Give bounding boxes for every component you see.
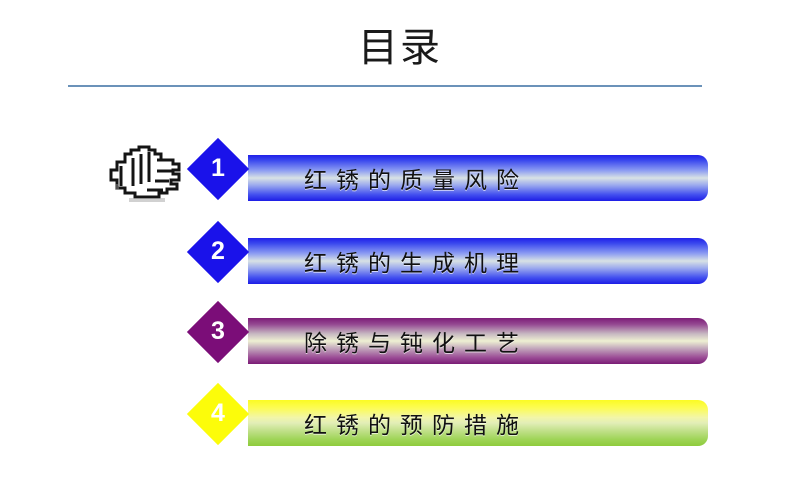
contents-bar[interactable]: 红锈的预防措施 <box>248 400 708 446</box>
contents-bar[interactable]: 红锈的质量风险 <box>248 155 708 201</box>
presentation-slide: 目录 红锈的质量风险 1 <box>0 0 800 497</box>
contents-item-label: 红锈的生成机理 <box>248 238 708 284</box>
list-item[interactable]: 红锈的生成机理 2 <box>196 224 708 294</box>
list-item[interactable]: 红锈的预防措施 4 <box>196 386 708 456</box>
contents-item-number: 4 <box>196 392 240 436</box>
contents-item-label: 红锈的质量风险 <box>248 155 708 201</box>
list-item[interactable]: 除锈与钝化工艺 3 <box>196 304 708 374</box>
list-item[interactable]: 红锈的质量风险 1 <box>196 141 708 211</box>
contents-item-number: 1 <box>196 147 240 191</box>
contents-bar[interactable]: 除锈与钝化工艺 <box>248 318 708 364</box>
contents-item-number: 2 <box>196 230 240 274</box>
hand-pointer-icon <box>95 140 187 208</box>
page-title: 目录 <box>0 22 800 74</box>
title-divider <box>68 85 702 87</box>
contents-bar[interactable]: 红锈的生成机理 <box>248 238 708 284</box>
contents-item-label: 除锈与钝化工艺 <box>248 318 708 364</box>
contents-item-number: 3 <box>196 310 240 354</box>
contents-item-label: 红锈的预防措施 <box>248 400 708 446</box>
